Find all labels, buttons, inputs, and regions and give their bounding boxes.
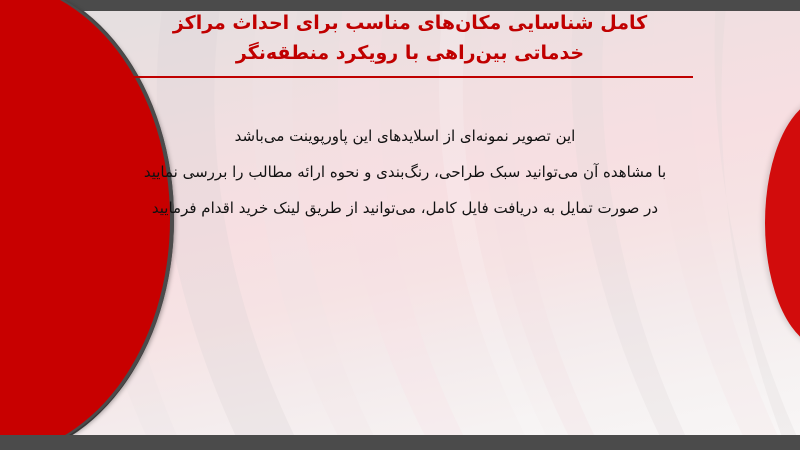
body-line-3: در صورت تمایل به دریافت فایل کامل، می‌تو… — [110, 190, 700, 226]
bottom-frame-band — [0, 435, 800, 450]
title-line-1: کامل شناسایی مکان‌های مناسب برای احداث م… — [120, 8, 700, 38]
presentation-slide: کامل شناسایی مکان‌های مناسب برای احداث م… — [0, 0, 800, 450]
slide-body-text: این تصویر نمونه‌ای از اسلایدهای این پاور… — [110, 118, 700, 226]
title-line-2: خدماتی بین‌راهی با رویکرد منطقه‌نگر — [120, 38, 700, 68]
body-line-2: با مشاهده آن می‌توانید سبک طراحی، رنگ‌بن… — [110, 154, 700, 190]
body-line-1: این تصویر نمونه‌ای از اسلایدهای این پاور… — [110, 118, 700, 154]
slide-title: کامل شناسایی مکان‌های مناسب برای احداث م… — [120, 8, 700, 68]
title-underline — [133, 76, 693, 78]
